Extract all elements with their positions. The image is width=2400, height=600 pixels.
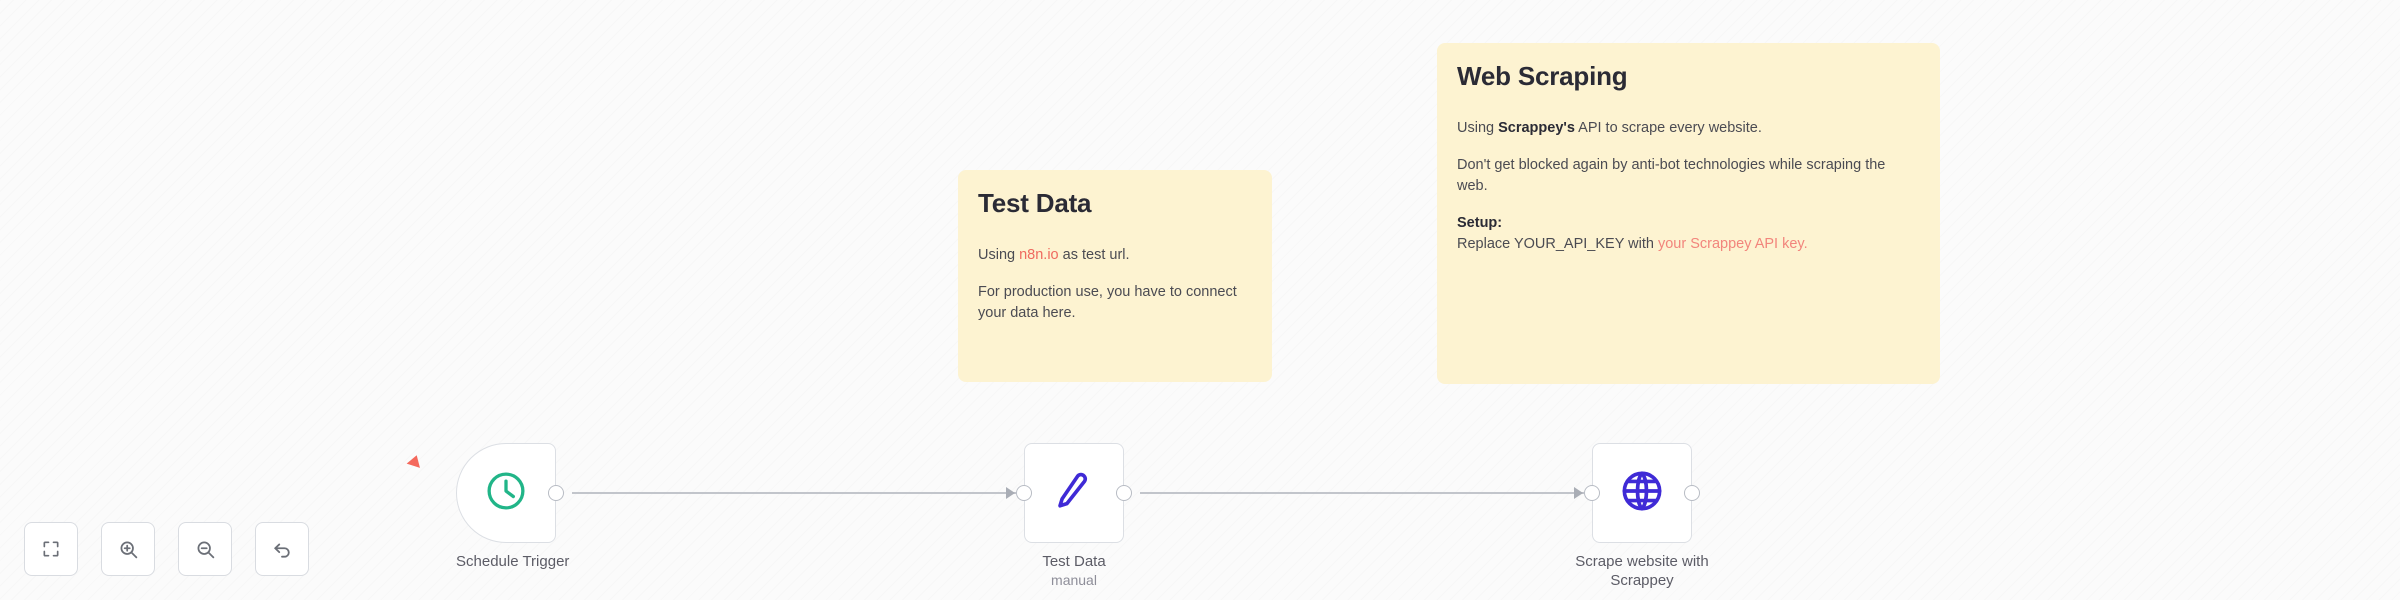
reset-zoom-button[interactable] xyxy=(255,522,309,576)
zoom-in-button[interactable] xyxy=(101,522,155,576)
node-scrape-website[interactable]: Scrape website with Scrappey xyxy=(1592,443,1727,591)
connector-testdata-to-scrape[interactable] xyxy=(1140,492,1584,494)
sticky-note-title: Test Data xyxy=(978,188,1252,219)
scrappey-bold-text: Scrappey's xyxy=(1498,120,1575,136)
sticky-note-web-scraping[interactable]: Web Scraping Using Scrappey's API to scr… xyxy=(1437,43,1940,384)
node-label: Test Data xyxy=(1024,553,1124,572)
sticky-note-paragraph: Don't get blocked again by anti-bot tech… xyxy=(1457,155,1920,197)
zoom-out-button[interactable] xyxy=(178,522,232,576)
node-body[interactable] xyxy=(1592,443,1692,543)
sticky-note-paragraph: Using Scrappey's API to scrape every web… xyxy=(1457,118,1920,139)
sticky-note-setup-block: Setup:Replace YOUR_API_KEY with your Scr… xyxy=(1457,213,1920,255)
pencil-icon xyxy=(1051,468,1097,519)
text-fragment: Replace YOUR_API_KEY with xyxy=(1457,236,1658,252)
node-label: Scrape website with Scrappey xyxy=(1557,553,1727,591)
node-issue-marker xyxy=(407,453,424,468)
text-fragment: Using xyxy=(1457,120,1498,136)
globe-icon xyxy=(1619,468,1665,519)
node-input-endpoint[interactable] xyxy=(1016,485,1032,501)
sticky-note-title: Web Scraping xyxy=(1457,61,1920,92)
clock-icon xyxy=(484,469,528,518)
node-output-endpoint[interactable] xyxy=(1116,485,1132,501)
undo-arrow-icon xyxy=(271,538,293,560)
sticky-note-paragraph: For production use, you have to connect … xyxy=(978,282,1252,324)
canvas-toolbar xyxy=(24,522,309,576)
text-fragment: API to scrape every website. xyxy=(1575,120,1762,136)
text-fragment: Using xyxy=(978,247,1019,263)
zoom-in-icon xyxy=(118,539,139,560)
node-input-endpoint[interactable] xyxy=(1584,485,1600,501)
node-subtitle: manual xyxy=(1024,572,1124,590)
node-label: Schedule Trigger xyxy=(456,553,569,572)
node-body[interactable] xyxy=(456,443,556,543)
zoom-out-icon xyxy=(195,539,216,560)
node-body[interactable] xyxy=(1024,443,1124,543)
connector-arrowhead xyxy=(1006,487,1015,499)
node-output-endpoint[interactable] xyxy=(548,485,564,501)
fit-to-view-icon xyxy=(41,539,61,559)
node-output-endpoint[interactable] xyxy=(1684,485,1700,501)
node-test-data[interactable]: Test Data manual xyxy=(1024,443,1124,589)
setup-label: Setup: xyxy=(1457,215,1502,231)
fit-to-view-button[interactable] xyxy=(24,522,78,576)
sticky-note-test-data[interactable]: Test Data Using n8n.io as test url. For … xyxy=(958,170,1272,382)
workflow-canvas[interactable]: Test Data Using n8n.io as test url. For … xyxy=(0,0,2400,600)
sticky-note-paragraph: Using n8n.io as test url. xyxy=(978,245,1252,266)
connector-schedule-to-testdata[interactable] xyxy=(572,492,1016,494)
text-fragment: as test url. xyxy=(1059,247,1130,263)
n8n-io-link[interactable]: n8n.io xyxy=(1019,247,1059,263)
node-schedule-trigger[interactable]: Schedule Trigger xyxy=(456,443,569,572)
scrappey-api-key-link[interactable]: your Scrappey API key. xyxy=(1658,236,1808,252)
connector-arrowhead xyxy=(1574,487,1583,499)
